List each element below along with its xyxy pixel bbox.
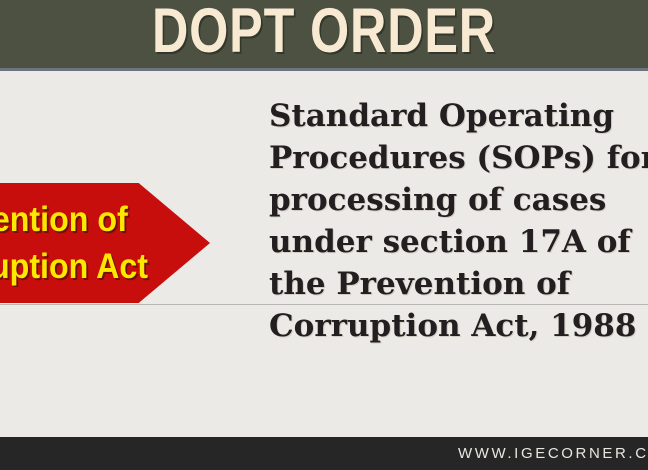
- act-arrow-label-line-2: Corruption Act: [0, 243, 135, 290]
- order-subject-line-1: Standard Operating: [269, 95, 648, 137]
- order-subject-text: Standard Operating Procedures (SOPs) for…: [269, 95, 648, 347]
- site-url-label[interactable]: WWW.IGECORNER.COM: [458, 437, 648, 470]
- content-area: Prevention of Corruption Act Standard Op…: [0, 71, 648, 437]
- act-arrow-label-line-1: Prevention of: [0, 196, 135, 243]
- order-subject-line-6: Corruption Act, 1988: [269, 305, 648, 347]
- footer-band: WWW.IGECORNER.COM: [0, 437, 648, 470]
- order-subject-line-5: the Prevention of: [269, 263, 648, 305]
- page-title: DOPT ORDER: [65, 0, 583, 65]
- act-arrow-banner: Prevention of Corruption Act: [0, 183, 210, 303]
- poster-canvas: DOPT ORDER Prevention of Corruption Act …: [0, 0, 648, 470]
- order-subject-line-4: under section 17A of: [269, 221, 648, 263]
- order-subject-line-3: processing of cases: [269, 179, 648, 221]
- header-band: DOPT ORDER: [0, 0, 648, 68]
- act-arrow-label-group: Prevention of Corruption Act: [0, 183, 154, 303]
- order-subject-line-2: Procedures (SOPs) for: [269, 137, 648, 179]
